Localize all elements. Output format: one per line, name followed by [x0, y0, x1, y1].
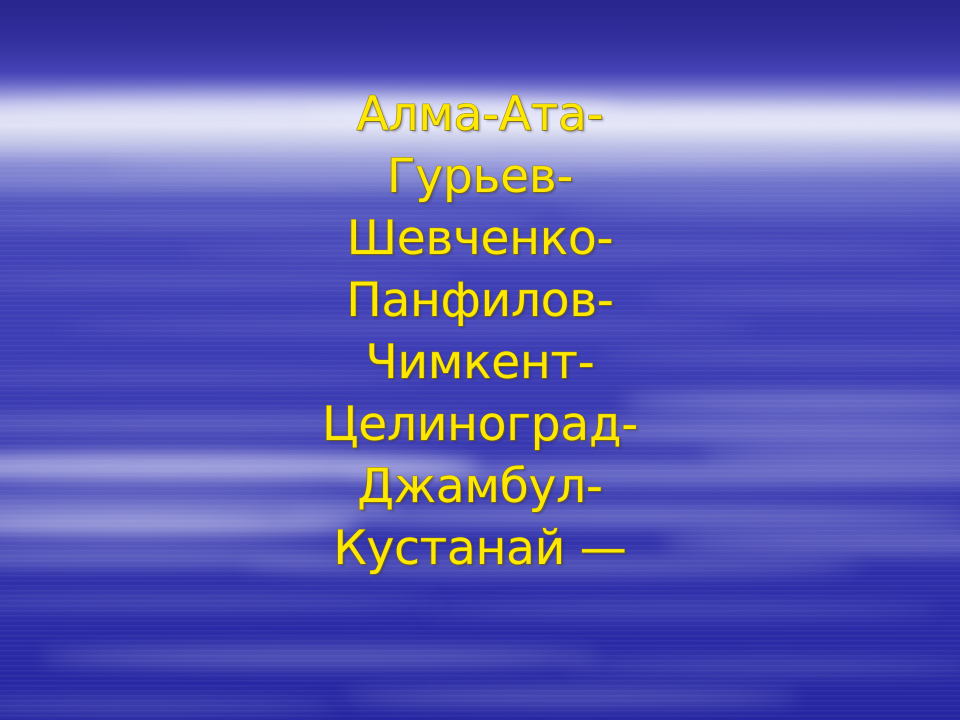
- text-line-8: Кустанай —: [0, 518, 960, 580]
- text-line-3: Шевченко-: [0, 208, 960, 270]
- text-line-2: Гурьев-: [0, 146, 960, 208]
- text-line-7: Джамбул-: [0, 456, 960, 518]
- text-line-4: Панфилов-: [0, 270, 960, 332]
- text-line-1: Алма-Ата-: [0, 84, 960, 146]
- text-line-5: Чимкент-: [0, 332, 960, 394]
- slide-body-text: Алма-Ата- Гурьев- Шевченко- Панфилов- Чи…: [0, 84, 960, 580]
- presentation-slide: Алма-Ата- Гурьев- Шевченко- Панфилов- Чи…: [0, 0, 960, 720]
- text-line-6: Целиноград-: [0, 394, 960, 456]
